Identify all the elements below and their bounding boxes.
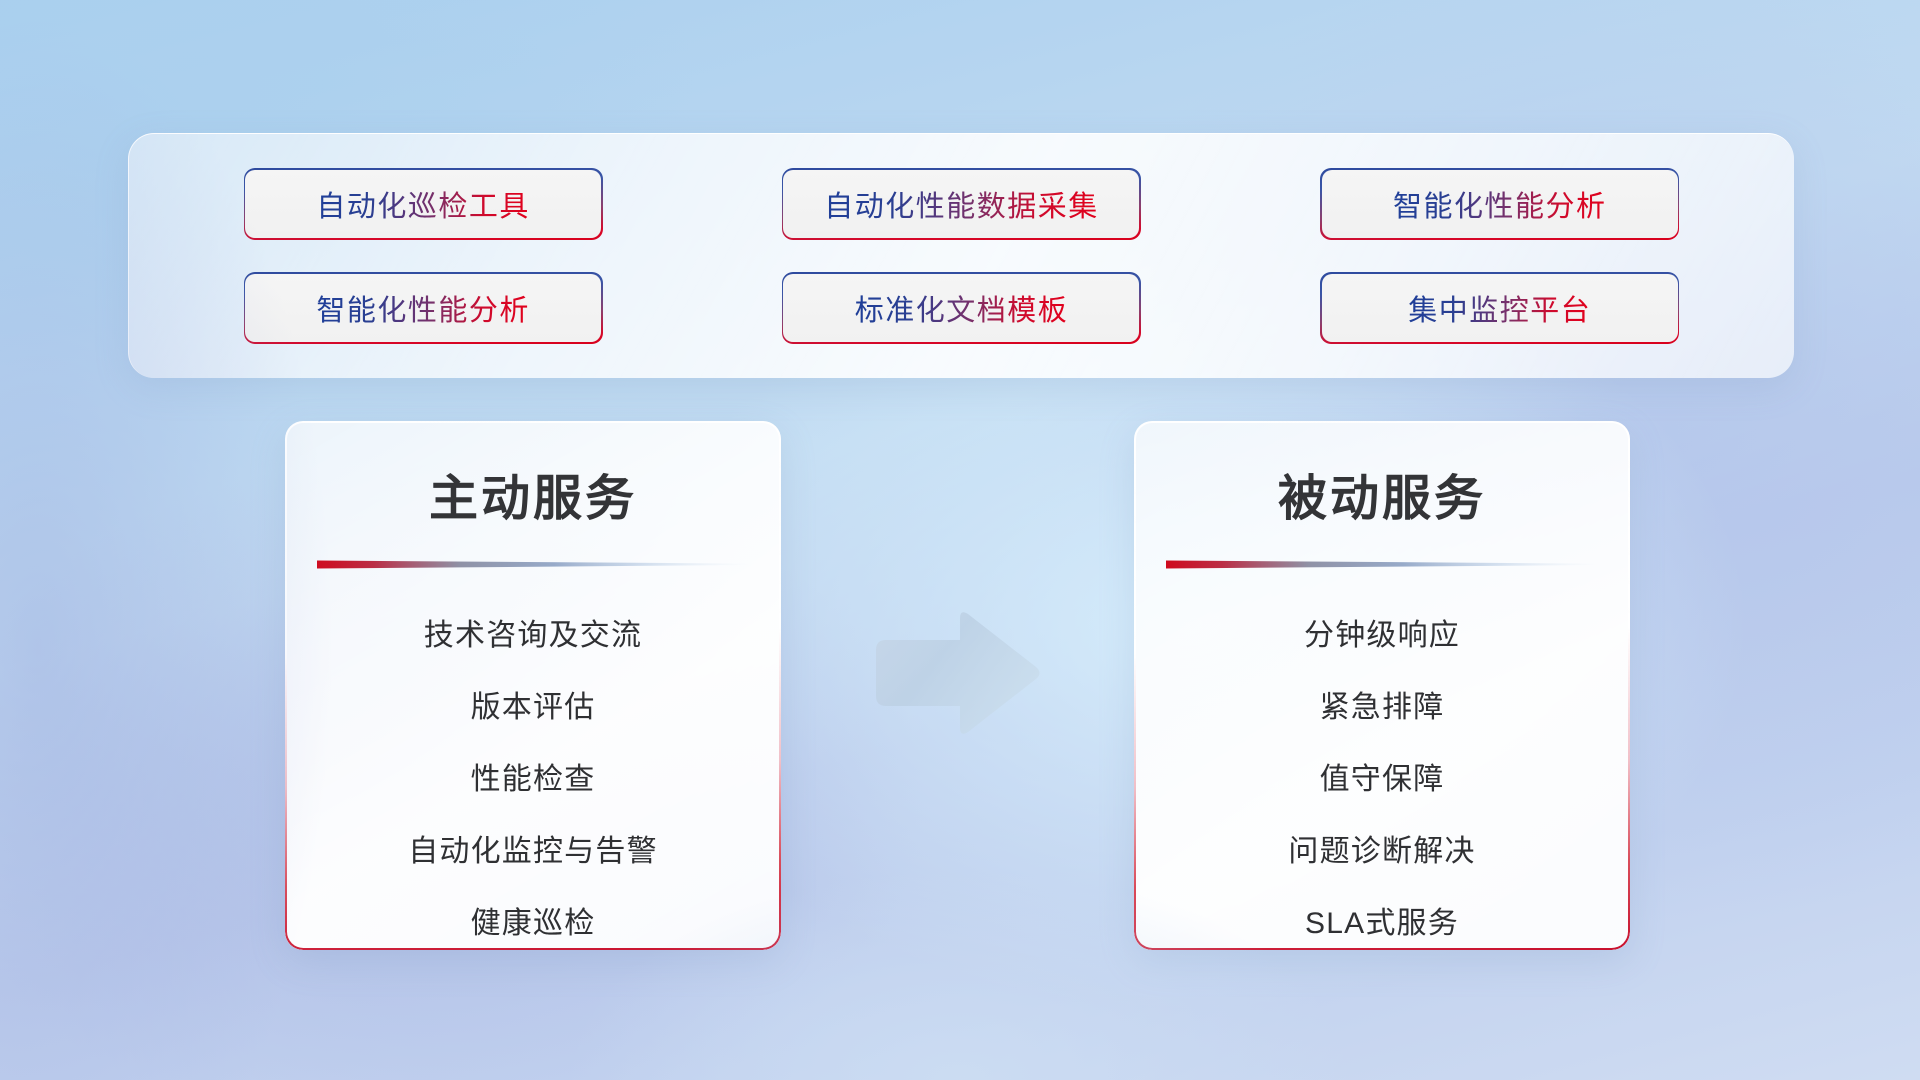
- capability-chip-4[interactable]: 智能化性能分析: [245, 274, 601, 342]
- capability-chip-3[interactable]: 智能化性能分析: [1322, 170, 1678, 238]
- capability-chip-6[interactable]: 集中监控平台: [1322, 274, 1678, 342]
- capability-chip-label: 自动化巡检工具: [316, 183, 530, 225]
- list-item: 自动化监控与告警: [285, 816, 781, 888]
- list-item: 健康巡检: [285, 888, 781, 950]
- capability-chip-label: 智能化性能分析: [316, 287, 530, 329]
- card-title: 主动服务: [285, 459, 781, 530]
- list-item: 问题诊断解决: [1134, 816, 1630, 888]
- card-title: 被动服务: [1134, 459, 1630, 530]
- capability-chip-1[interactable]: 自动化巡检工具: [245, 170, 601, 238]
- list-item: 版本评估: [285, 672, 781, 744]
- list-item: 技术咨询及交流: [285, 600, 781, 672]
- list-item: 性能检查: [285, 744, 781, 816]
- capability-chip-label: 集中监控平台: [1408, 287, 1591, 329]
- title-divider: [317, 558, 749, 570]
- list-item: SLA式服务: [1134, 888, 1630, 950]
- list-item: 分钟级响应: [1134, 600, 1630, 672]
- capability-chip-label: 自动化性能数据采集: [824, 183, 1099, 225]
- capability-chip-label: 智能化性能分析: [1393, 183, 1607, 225]
- service-card-reactive: 被动服务 分钟级响应 紧急排障 值守保障: [1134, 421, 1630, 950]
- diagram-canvas: 自动化巡检工具 自动化性能数据采集 智能化性能分析 智能化性能分析 标准化文档模…: [0, 0, 1920, 1080]
- arrow-right-icon: [872, 608, 1042, 738]
- list-item: 紧急排障: [1134, 672, 1630, 744]
- title-divider: [1166, 558, 1598, 570]
- capabilities-panel: 自动化巡检工具 自动化性能数据采集 智能化性能分析 智能化性能分析 标准化文档模…: [128, 133, 1794, 378]
- list-item: 值守保障: [1134, 744, 1630, 816]
- capability-chip-5[interactable]: 标准化文档模板: [783, 274, 1139, 342]
- capability-chip-2[interactable]: 自动化性能数据采集: [783, 170, 1139, 238]
- service-list-proactive: 技术咨询及交流 版本评估 性能检查 自动化监控与告警 健康巡检: [285, 600, 781, 950]
- service-card-proactive: 主动服务 技术咨询及交流 版本评估 性能检查: [285, 421, 781, 950]
- service-list-reactive: 分钟级响应 紧急排障 值守保障 问题诊断解决 SLA式服务: [1134, 600, 1630, 950]
- capability-chip-label: 标准化文档模板: [855, 287, 1069, 329]
